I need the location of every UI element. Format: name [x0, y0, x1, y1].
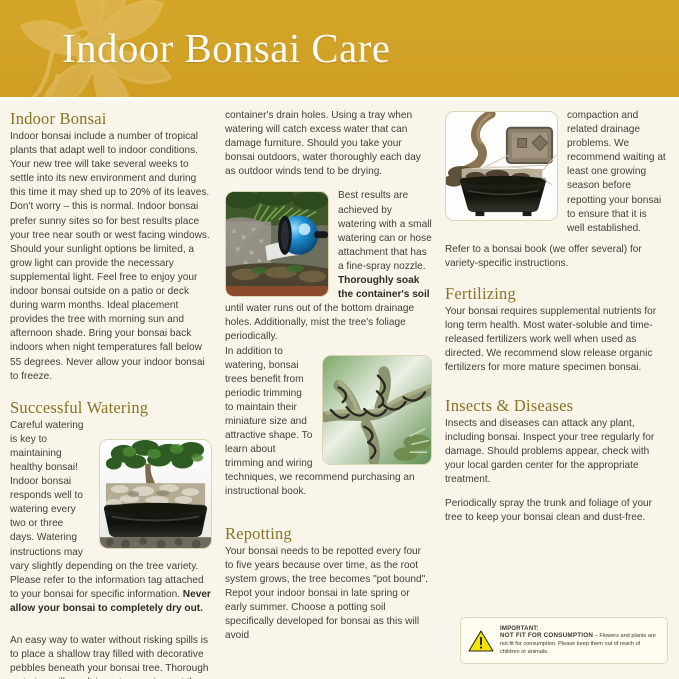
- warning-line-1: IMPORTANT:: [500, 625, 661, 633]
- paragraph-repotting: Your bonsai needs to be repotted every f…: [225, 545, 432, 644]
- heading-indoor-bonsai: Indoor Bonsai: [10, 109, 212, 129]
- warning-triangle-icon: [468, 629, 494, 653]
- paragraph-watering-2: An easy way to water without risking spi…: [10, 634, 212, 679]
- paragraph-insects-2: Periodically spray the trunk and foliage…: [445, 497, 666, 525]
- warning-text: IMPORTANT: NOT FIT FOR CONSUMPTION – Flo…: [500, 625, 661, 656]
- heading-insects-diseases: Insects & Diseases: [445, 396, 666, 416]
- watering-nozzle-photo: [225, 191, 329, 297]
- column-3: compaction and related drainage problems…: [445, 109, 666, 679]
- page-header: Indoor Bonsai Care: [0, 0, 679, 97]
- content-columns: Indoor Bonsai Indoor bonsai include a nu…: [0, 101, 679, 679]
- poster-page: Indoor Bonsai Care Indoor Bonsai Indoor …: [0, 0, 679, 679]
- bonsai-in-black-pot-photo: [99, 439, 212, 549]
- column-1: Indoor Bonsai Indoor bonsai include a nu…: [10, 109, 225, 679]
- paragraph-fertilizing: Your bonsai requires supplemental nutrie…: [445, 305, 666, 375]
- warning-line-2-bold: NOT FIT FOR CONSUMPTION: [500, 632, 593, 639]
- wired-bonsai-branch-photo: [322, 355, 432, 465]
- paragraph-insects-1: Insects and diseases can attack any plan…: [445, 417, 666, 487]
- heading-successful-watering: Successful Watering: [10, 398, 212, 418]
- paragraph-best-results-b: until water runs out of the bottom drain…: [225, 303, 414, 342]
- paragraph-indoor-bonsai: Indoor bonsai include a number of tropic…: [10, 130, 212, 384]
- heading-fertilizing: Fertilizing: [445, 284, 666, 304]
- paragraph-refer-book: Refer to a bonsai book (we offer several…: [445, 243, 666, 271]
- column-2: container's drain holes. Using a tray wh…: [225, 109, 445, 679]
- bonsai-repotting-pot-photo: [445, 111, 558, 221]
- warning-box: IMPORTANT: NOT FIT FOR CONSUMPTION – Flo…: [460, 617, 668, 664]
- paragraph-drain-holes: container's drain holes. Using a tray wh…: [225, 109, 432, 179]
- heading-repotting: Repotting: [225, 524, 432, 544]
- page-title: Indoor Bonsai Care: [62, 24, 390, 72]
- paragraph-best-results-a: Best results are achieved by watering wi…: [338, 190, 432, 271]
- paragraph-best-results-emphasis: Thoroughly soak the container's soil: [338, 275, 430, 300]
